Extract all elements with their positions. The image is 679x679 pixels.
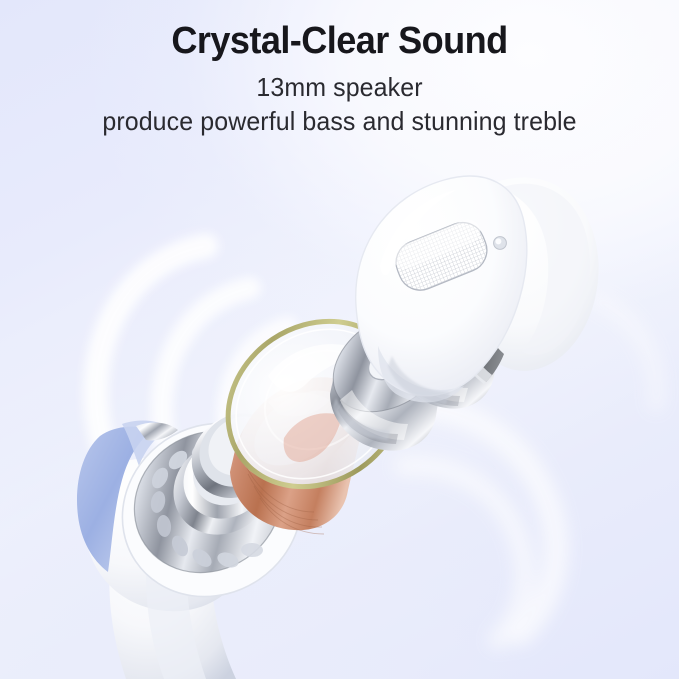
ear-tip	[356, 176, 527, 402]
sensor-hole	[494, 237, 507, 250]
product-banner: Crystal-Clear Sound 13mm speaker produce…	[0, 0, 679, 679]
earbud-exploded-illustration	[0, 0, 679, 679]
